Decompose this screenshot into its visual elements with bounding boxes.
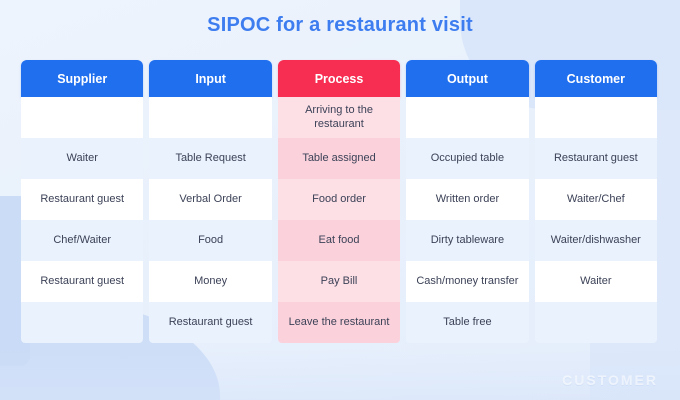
table-cell: Waiter/dishwasher [535,220,657,261]
table-cell [535,97,657,138]
table-cell: Table assigned [278,138,400,179]
table-cell: Restaurant guest [21,179,143,220]
table-cell: Restaurant guest [21,261,143,302]
column-header-customer[interactable]: Customer [535,60,657,97]
column-header-process[interactable]: Process [278,60,400,97]
table-cell: Table free [406,302,528,343]
column-header-input[interactable]: Input [149,60,271,97]
table-cell: Occupied table [406,138,528,179]
table-cell [149,97,271,138]
table-cell: Verbal Order [149,179,271,220]
column-header-output[interactable]: Output [406,60,528,97]
table-cell [535,302,657,343]
table-cell: Cash/money transfer [406,261,528,302]
table-cell [21,302,143,343]
table-cell: Waiter/Chef [535,179,657,220]
table-cell: Money [149,261,271,302]
sipoc-table: Supplier Waiter Restaurant guest Chef/Wa… [21,60,657,343]
table-cell: Eat food [278,220,400,261]
sipoc-column-process: Process Arriving to the restaurant Table… [278,60,400,343]
table-cell: Written order [406,179,528,220]
table-cell [406,97,528,138]
table-cell: Leave the restaurant [278,302,400,343]
page-title: SIPOC for a restaurant visit [0,14,680,37]
sipoc-diagram-canvas: SIPOC for a restaurant visit Supplier Wa… [0,0,680,400]
table-cell: Pay Bill [278,261,400,302]
table-cell: Dirty tableware [406,220,528,261]
sipoc-column-output: Output Occupied table Written order Dirt… [406,60,528,343]
sipoc-column-supplier: Supplier Waiter Restaurant guest Chef/Wa… [21,60,143,343]
table-cell: Chef/Waiter [21,220,143,261]
table-cell: Food [149,220,271,261]
sipoc-column-input: Input Table Request Verbal Order Food Mo… [149,60,271,343]
table-cell: Waiter [21,138,143,179]
table-cell: Restaurant guest [149,302,271,343]
table-cell [21,97,143,138]
watermark-text: CUSTOMER [562,372,658,388]
table-cell: Table Request [149,138,271,179]
sipoc-column-customer: Customer Restaurant guest Waiter/Chef Wa… [535,60,657,343]
table-cell: Food order [278,179,400,220]
table-cell: Arriving to the restaurant [278,97,400,138]
column-header-supplier[interactable]: Supplier [21,60,143,97]
table-cell: Waiter [535,261,657,302]
table-cell: Restaurant guest [535,138,657,179]
